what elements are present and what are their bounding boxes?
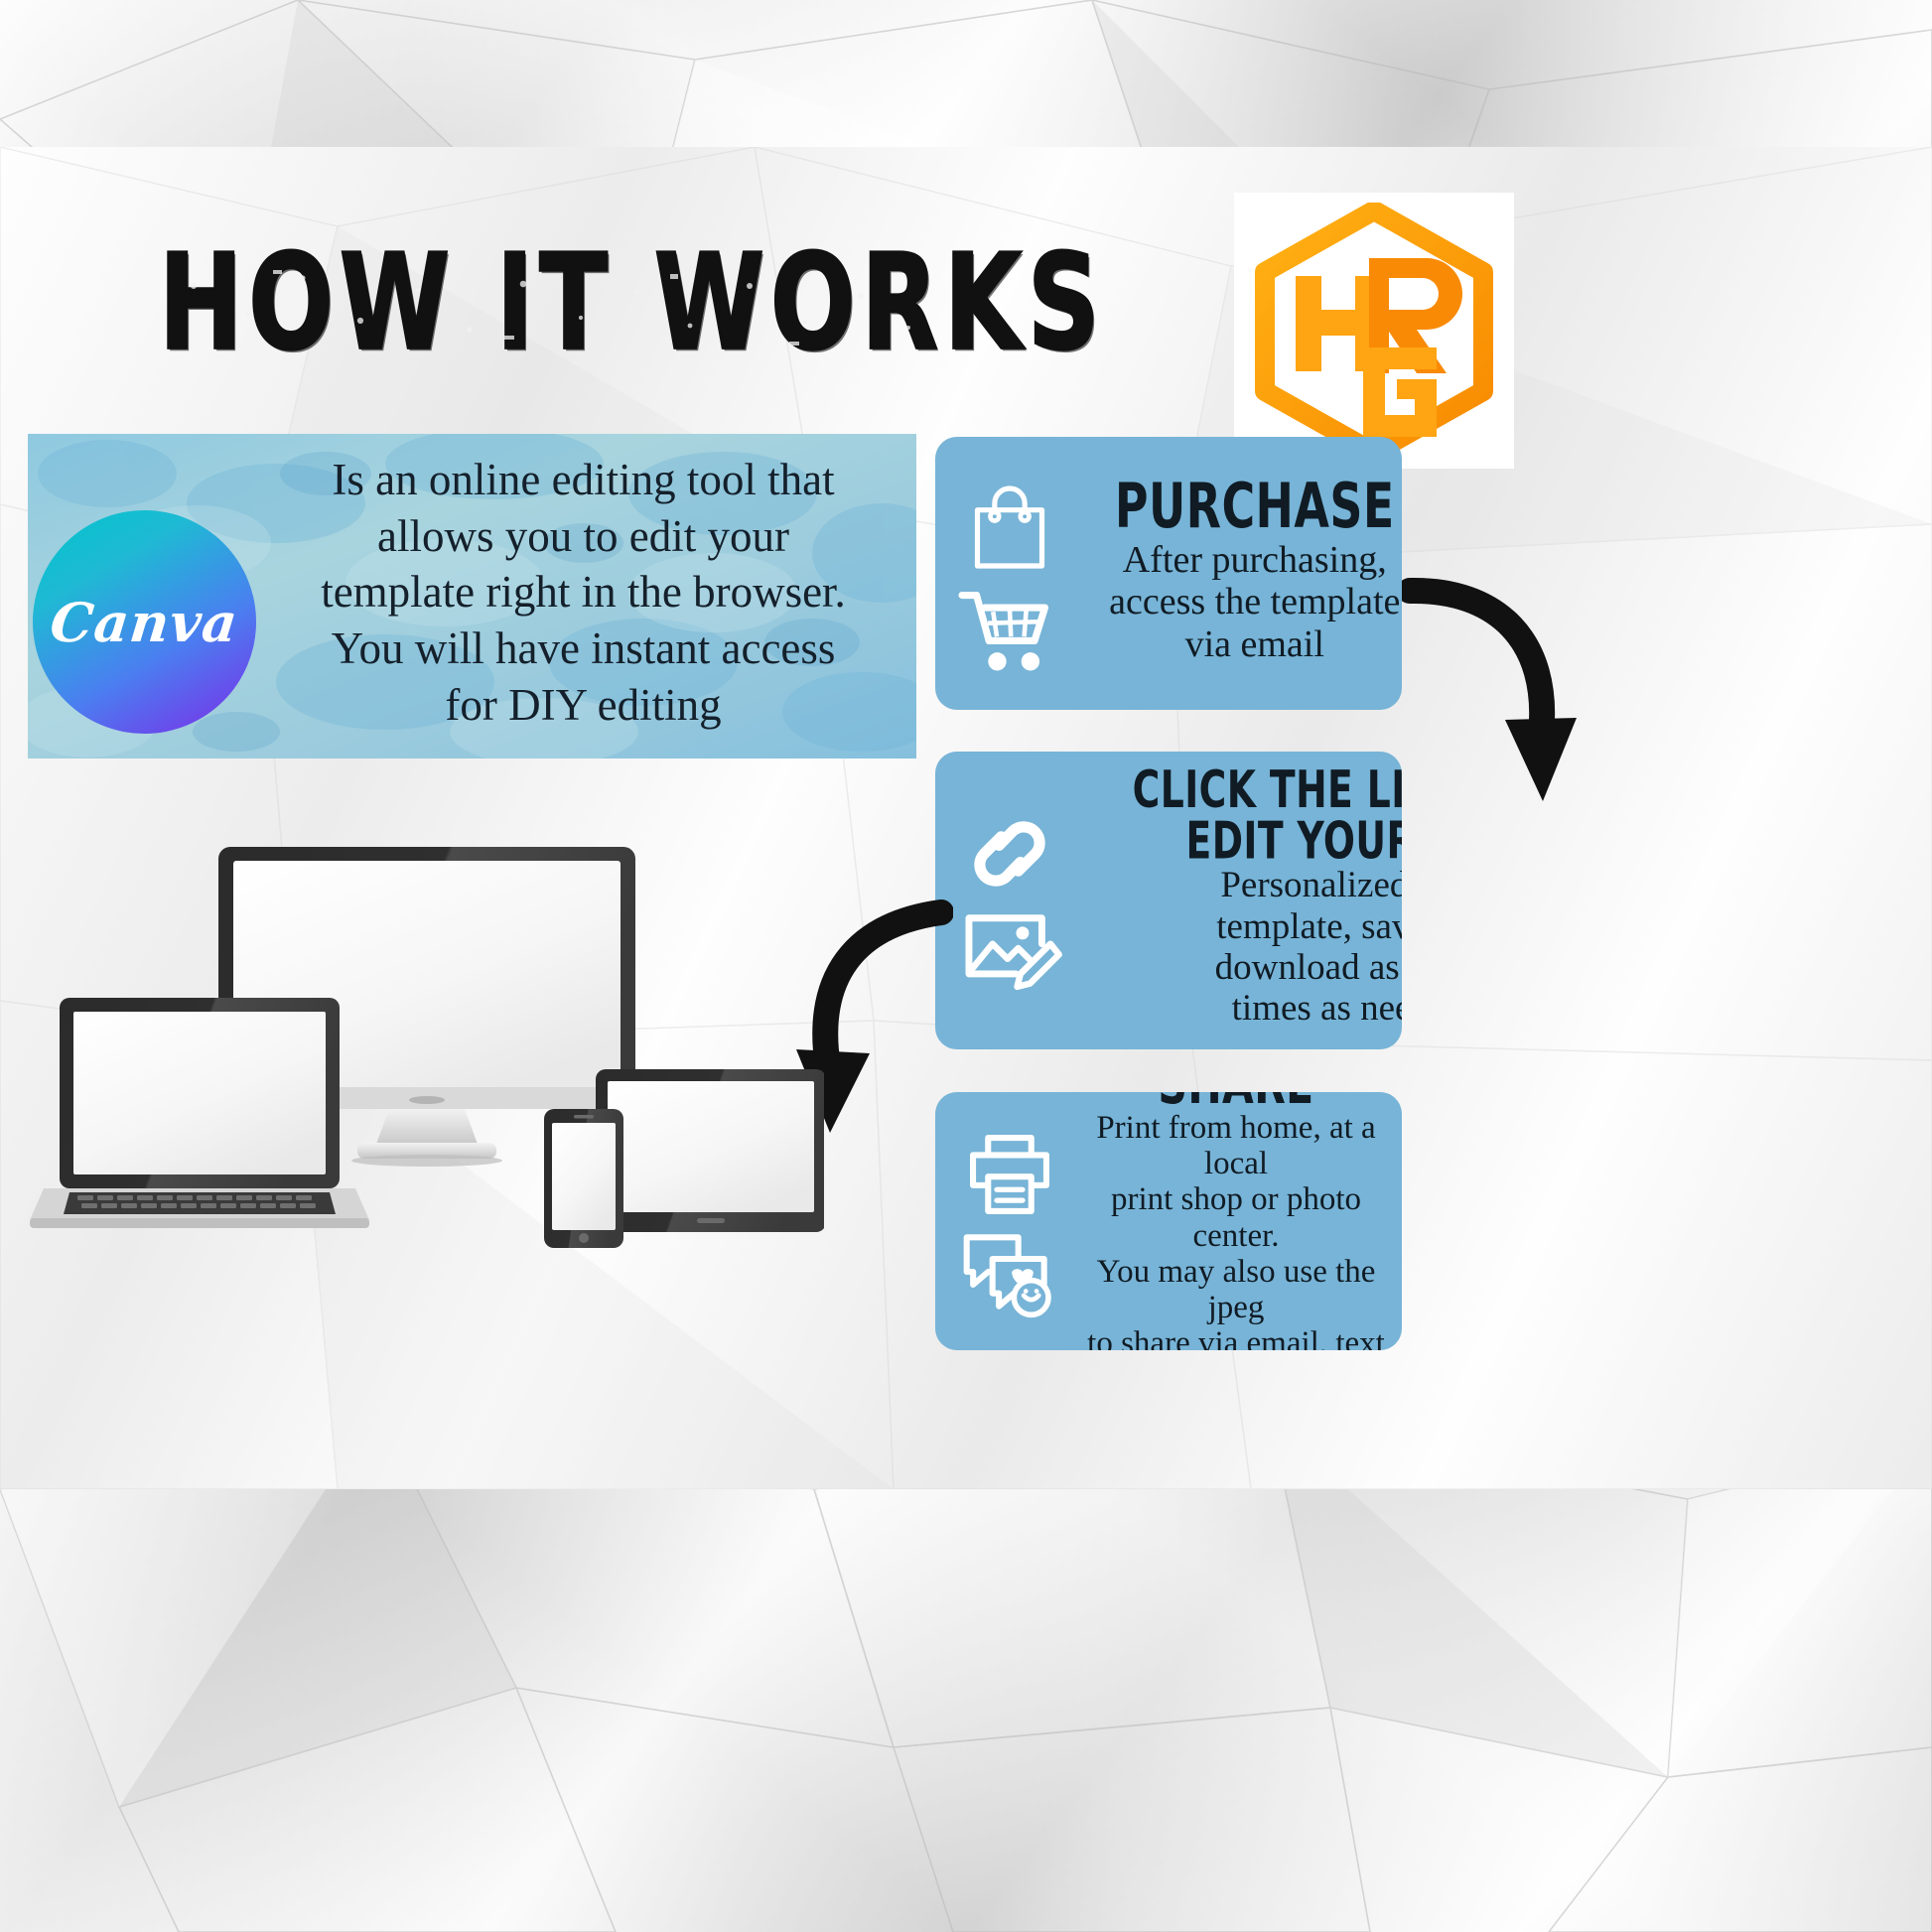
printer-icon bbox=[960, 1129, 1059, 1220]
brand-logo-box bbox=[1234, 193, 1514, 469]
step-description-purchase: After purchasing, access the template vi… bbox=[1109, 539, 1400, 666]
canva-wordmark: Canva bbox=[48, 591, 241, 654]
step-card-click-and-edit[interactable]: CLICK THE LINK AND EDIT YOURSELF Persona… bbox=[935, 752, 1402, 1049]
step-line: Personalized your bbox=[1220, 865, 1402, 905]
canva-description-line: You will have instant access bbox=[258, 621, 908, 677]
page-title: HOW IT WORKS bbox=[159, 236, 1105, 368]
canva-description-line: template right in the browser. bbox=[258, 564, 908, 621]
step-line: You may also use the jpeg bbox=[1097, 1254, 1376, 1325]
step-line: download as many bbox=[1215, 947, 1402, 988]
step-heading-click-and-edit: CLICK THE LINK AND EDIT YOURSELF bbox=[1133, 764, 1402, 867]
step-heading-print-or-share: PRINT OR SHARE bbox=[1112, 1092, 1361, 1112]
share-social-icon bbox=[958, 1224, 1061, 1319]
link-chain-icon bbox=[956, 811, 1063, 897]
step-line: print shop or photo center. bbox=[1111, 1181, 1361, 1253]
device-mockups bbox=[30, 839, 824, 1251]
canva-description-line: Is an online editing tool that bbox=[258, 452, 908, 508]
step-icons-click-and-edit bbox=[935, 752, 1084, 1049]
step-line: to share via email, text or bbox=[1087, 1325, 1385, 1350]
step-line: times as needed. bbox=[1232, 988, 1402, 1029]
image-edit-icon bbox=[956, 900, 1063, 996]
step-card-purchase[interactable]: PURCHASE After purchasing, access the te… bbox=[935, 437, 1402, 710]
step-body-purchase: PURCHASE After purchasing, access the te… bbox=[1084, 437, 1402, 710]
canva-info-panel: Canva Is an online editing tool that all… bbox=[28, 434, 916, 759]
smartphone bbox=[544, 1109, 623, 1248]
step-line: Print from home, at a local bbox=[1096, 1110, 1375, 1181]
shopping-bag-icon bbox=[958, 476, 1061, 579]
shopping-cart-icon bbox=[954, 583, 1065, 678]
step-line: After purchasing, bbox=[1123, 539, 1387, 581]
step-description-print-or-share: Print from home, at a local print shop o… bbox=[1084, 1110, 1388, 1350]
step-body-print-or-share: PRINT OR SHARE Print from home, at a loc… bbox=[1084, 1092, 1402, 1350]
step-card-print-or-share[interactable]: PRINT OR SHARE Print from home, at a loc… bbox=[935, 1092, 1402, 1350]
step-body-click-and-edit: CLICK THE LINK AND EDIT YOURSELF Persona… bbox=[1084, 752, 1402, 1049]
step-description-click-and-edit: Personalized your template, save and dow… bbox=[1215, 865, 1402, 1030]
infographic-canvas: HOW IT WORKS bbox=[0, 0, 1932, 1932]
canva-description-line: allows you to edit your bbox=[258, 508, 908, 565]
canva-logo-badge: Canva bbox=[33, 510, 256, 734]
step-line: via email bbox=[1185, 623, 1324, 665]
step-line: template, save and bbox=[1216, 906, 1402, 947]
step-line: access the template bbox=[1109, 581, 1400, 622]
hrg-cube-logo-icon bbox=[1252, 203, 1496, 459]
canva-description: Is an online editing tool that allows yo… bbox=[258, 452, 908, 733]
canva-description-line: for DIY editing bbox=[258, 677, 908, 734]
tablet bbox=[596, 1069, 824, 1232]
step-icons-purchase bbox=[935, 437, 1084, 710]
laptop bbox=[30, 998, 369, 1228]
step-icons-print-or-share bbox=[935, 1092, 1084, 1350]
step-heading-purchase: PURCHASE bbox=[1115, 476, 1395, 538]
step-heading-line: EDIT YOURSELF bbox=[1186, 811, 1402, 871]
